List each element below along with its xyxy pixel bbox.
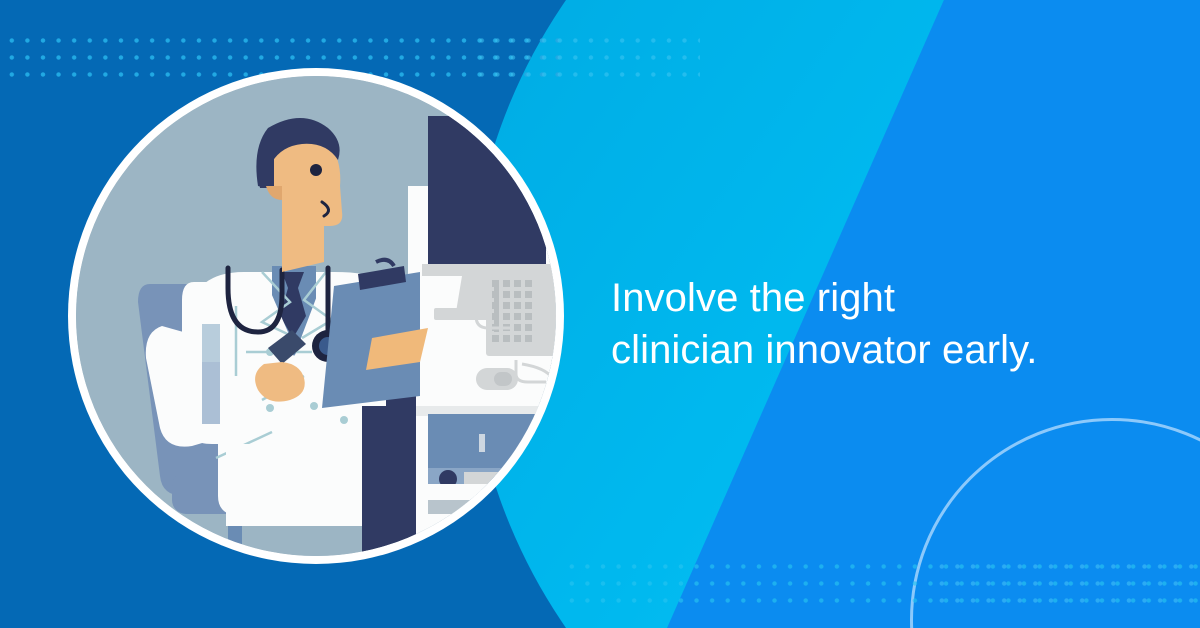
dot-pattern-top-center <box>470 28 700 80</box>
trousers <box>362 406 416 556</box>
clinician-illustration <box>76 76 556 556</box>
promo-banner: Involve the right clinician innovator ea… <box>0 0 1200 628</box>
headline-text: Involve the right clinician innovator ea… <box>611 272 1131 376</box>
dot-pattern-bottom-far-right <box>930 554 1200 606</box>
tower-led-strip <box>479 434 485 452</box>
pocket-top <box>202 324 220 362</box>
doctor-eye <box>310 164 322 176</box>
